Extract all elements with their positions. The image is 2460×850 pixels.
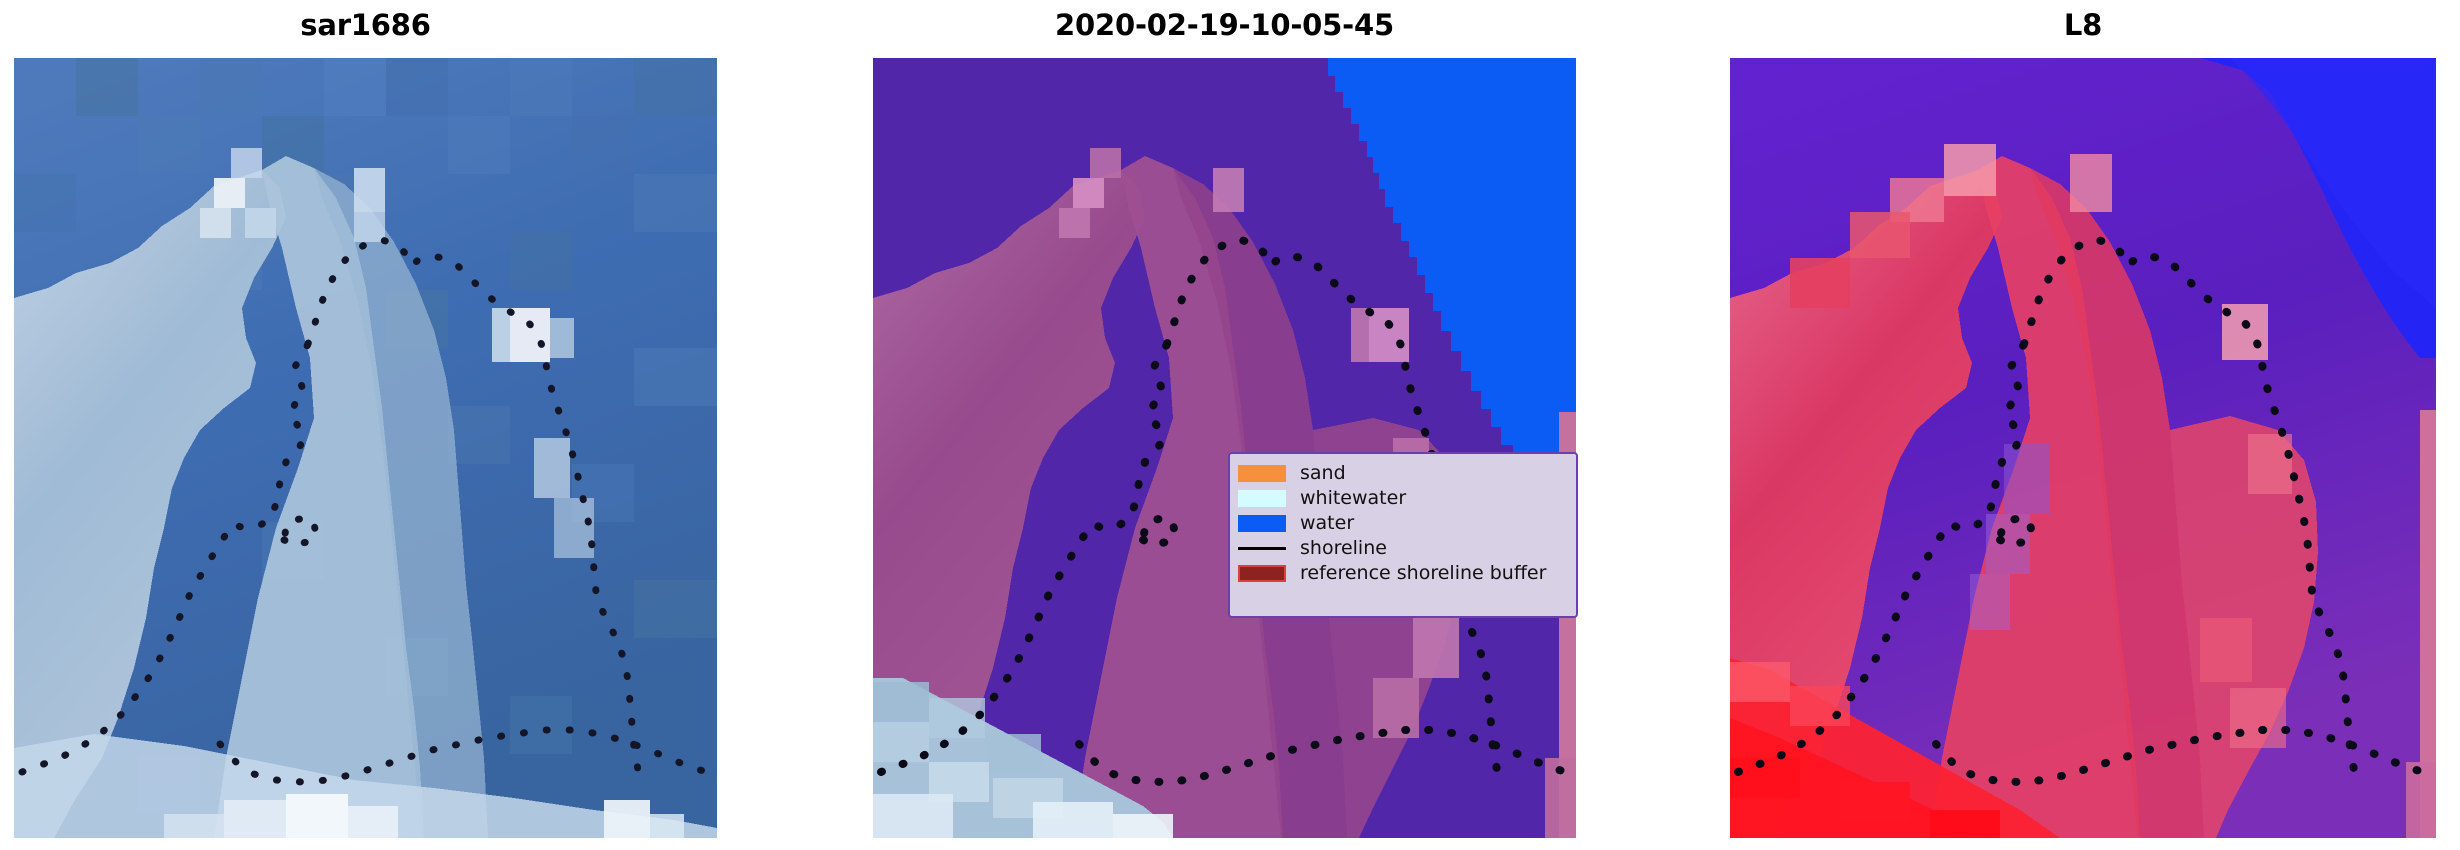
classified-image-svg [873, 58, 1576, 838]
panel-title-l8: L8 [1730, 8, 2436, 42]
figure-canvas: sar1686 [0, 0, 2460, 850]
legend-item-reference-shoreline-buffer[interactable]: reference shoreline buffer [1238, 561, 1566, 586]
sand-swatch [1238, 465, 1286, 482]
panel-title-sar: sar1686 [14, 8, 717, 42]
legend-item-shoreline[interactable]: shoreline [1238, 536, 1566, 561]
panel-image-sar[interactable] [14, 58, 717, 838]
legend-item-whitewater[interactable]: whitewater [1238, 486, 1566, 511]
legend-box[interactable]: sand whitewater water shoreline referenc… [1228, 452, 1578, 618]
water-swatch [1238, 515, 1286, 532]
panel-title-classified: 2020-02-19-10-05-45 [873, 8, 1576, 42]
panel-image-l8[interactable] [1730, 58, 2436, 838]
shoreline-line-swatch [1238, 540, 1286, 557]
sar-image-svg [14, 58, 717, 838]
legend-item-sand[interactable]: sand [1238, 461, 1566, 486]
legend-label-shoreline: shoreline [1300, 539, 1387, 558]
legend-item-water[interactable]: water [1238, 511, 1566, 536]
legend-label-reference-shoreline-buffer: reference shoreline buffer [1300, 564, 1546, 583]
legend-label-water: water [1300, 514, 1354, 533]
panel-image-classified[interactable] [873, 58, 1576, 838]
legend-label-sand: sand [1300, 464, 1346, 483]
whitewater-swatch [1238, 490, 1286, 507]
l8-image-svg [1730, 58, 2436, 838]
reference-shoreline-buffer-swatch [1238, 565, 1286, 582]
legend-label-whitewater: whitewater [1300, 489, 1406, 508]
